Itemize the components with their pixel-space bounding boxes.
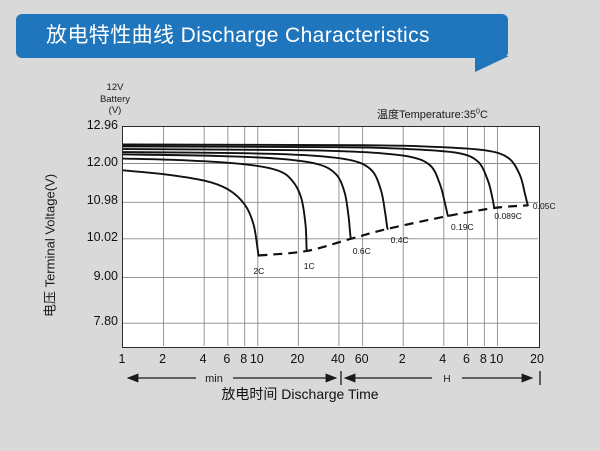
x-tick-label: 6 [463, 352, 470, 366]
curves-svg [123, 127, 538, 346]
y-tick-label: 7.80 [60, 314, 118, 328]
x-tick-label: 20 [290, 352, 304, 366]
curve-label-0.089C: 0.089C [494, 211, 521, 221]
plot-area: 2C1C0.6C0.4C0.19C0.089C0.05C [122, 126, 540, 348]
y-tick-label: 10.98 [60, 193, 118, 207]
page-title: 放电特性曲线 Discharge Characteristics [46, 14, 430, 58]
curve-label-2C: 2C [253, 266, 264, 276]
x-tick-label: 20 [530, 352, 544, 366]
x-tick-label: 8 [480, 352, 487, 366]
temperature-text: 温度Temperature:35 [377, 109, 476, 121]
x-tick-label: 10 [489, 352, 503, 366]
discharge-characteristics-chart: 12V Battery (V) 温度Temperature:350C 电压 Te… [0, 66, 600, 451]
curve-label-1C: 1C [304, 261, 315, 271]
x-tick-label: 4 [439, 352, 446, 366]
curve-label-0.6C: 0.6C [353, 246, 371, 256]
curve-label-0.19C: 0.19C [451, 222, 474, 232]
curve-label-0.05C: 0.05C [533, 201, 556, 211]
discharge-curve-2C [123, 170, 258, 255]
y-tick-label: 12.96 [60, 118, 118, 132]
title-banner: 放电特性曲线 Discharge Characteristics [16, 14, 508, 58]
x-tick-label: 60 [355, 352, 369, 366]
y-axis-ticks: 12.9612.0010.9810.029.007.80 [56, 66, 118, 366]
x-tick-label: 4 [200, 352, 207, 366]
x-tick-label: 40 [331, 352, 345, 366]
y-tick-label: 9.00 [60, 269, 118, 283]
x-axis-title: 放电时间 Discharge Time [0, 384, 600, 404]
x-tick-label: 8 [240, 352, 247, 366]
curve-label-0.4C: 0.4C [391, 235, 409, 245]
x-tick-label: 2 [399, 352, 406, 366]
y-tick-label: 10.02 [60, 230, 118, 244]
x-tick-label: 6 [223, 352, 230, 366]
x-tick-label: 10 [250, 352, 264, 366]
y-tick-label: 12.00 [60, 155, 118, 169]
x-tick-label: 2 [159, 352, 166, 366]
celsius-symbol: C [480, 109, 488, 121]
x-tick-label: 1 [119, 352, 126, 366]
x-axis-ticks: 124681020406024681020 [0, 352, 600, 370]
temperature-annotation: 温度Temperature:350C [377, 106, 488, 122]
